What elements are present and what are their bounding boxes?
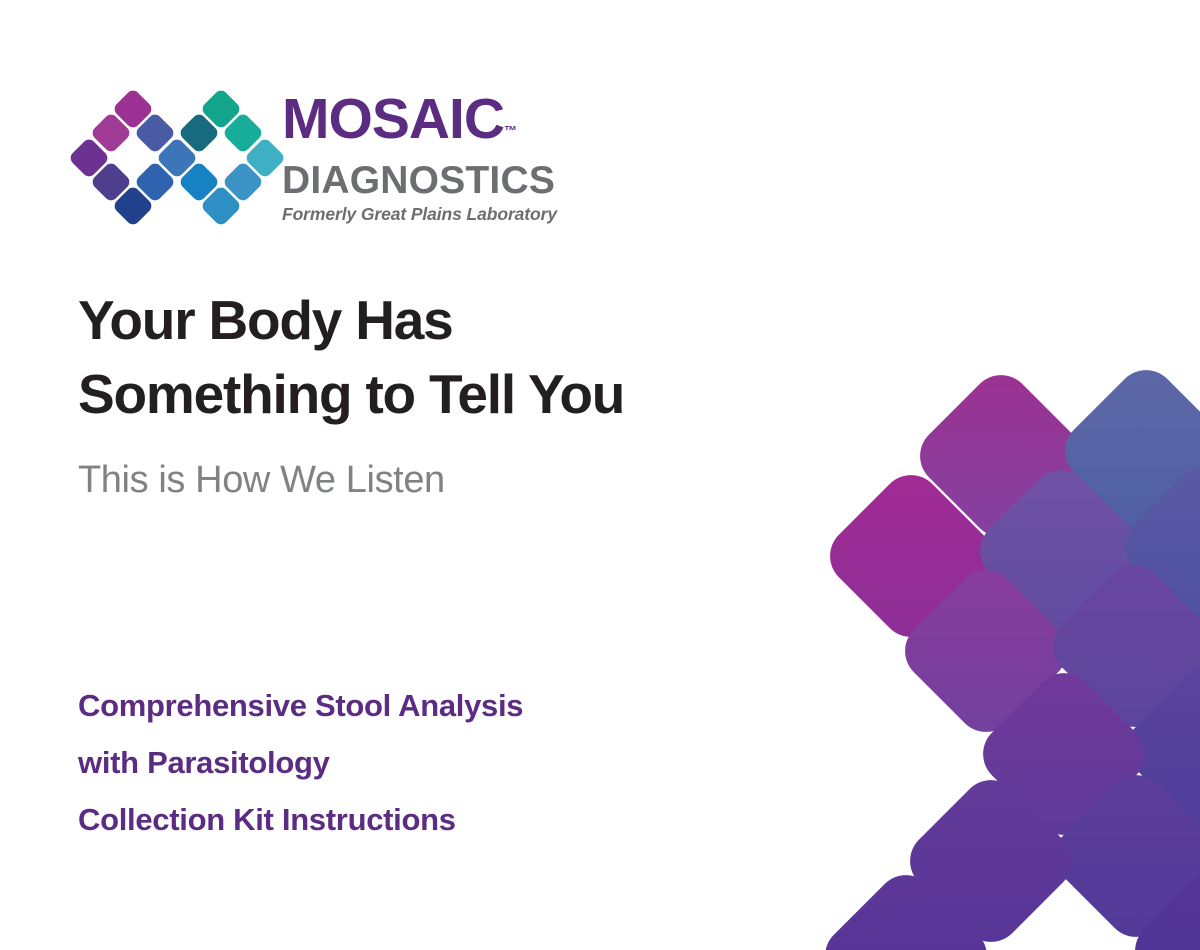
decor-diamond-3 <box>820 463 1004 650</box>
decor-diamond-1 <box>908 363 1095 550</box>
decor-diamond-8 <box>1115 655 1200 842</box>
decor-diamond-2 <box>1053 358 1200 545</box>
page-title: Your Body Has Something to Tell You <box>78 283 738 431</box>
decor-diamond-10 <box>1043 763 1200 950</box>
product-title-line-2: with Parasitology <box>78 734 738 791</box>
trademark-icon: ™ <box>504 123 517 138</box>
decor-diamond-7 <box>1041 553 1200 740</box>
mosaic-diamond-pattern <box>820 0 1200 950</box>
product-title-line-1: Comprehensive Stool Analysis <box>78 677 738 734</box>
decor-diamond-5 <box>1113 453 1200 640</box>
headline-line-2: Something to Tell You <box>78 357 738 431</box>
product-title-line-3: Collection Kit Instructions <box>78 791 738 848</box>
mosaic-diagnostics-logo: MOSAIC™ DIAGNOSTICS Formerly Great Plain… <box>74 92 554 217</box>
product-title: Comprehensive Stool Analysis with Parasi… <box>78 677 738 848</box>
page-subtitle: This is How We Listen <box>78 456 445 504</box>
headline-line-1: Your Body Has <box>78 283 738 357</box>
decor-diamond-9 <box>971 661 1158 848</box>
decor-diamond-11 <box>898 768 1085 950</box>
decor-diamond-12 <box>820 863 999 950</box>
decor-diamond-4 <box>968 458 1155 645</box>
logo-tagline: Formerly Great Plains Laboratory <box>282 203 558 225</box>
decor-diamond-13 <box>1123 858 1200 950</box>
decor-diamond-6 <box>893 558 1080 745</box>
mosaic-logo-mark-icon <box>74 92 274 214</box>
logo-wordmark-diagnostics: DIAGNOSTICS <box>282 160 558 202</box>
cover-page: MOSAIC™ DIAGNOSTICS Formerly Great Plain… <box>0 0 1200 950</box>
logo-wordmark-text: MOSAIC <box>282 87 504 151</box>
logo-wordmark-mosaic: MOSAIC™ <box>282 90 558 160</box>
logo-wordmark-group: MOSAIC™ DIAGNOSTICS Formerly Great Plain… <box>282 90 558 225</box>
